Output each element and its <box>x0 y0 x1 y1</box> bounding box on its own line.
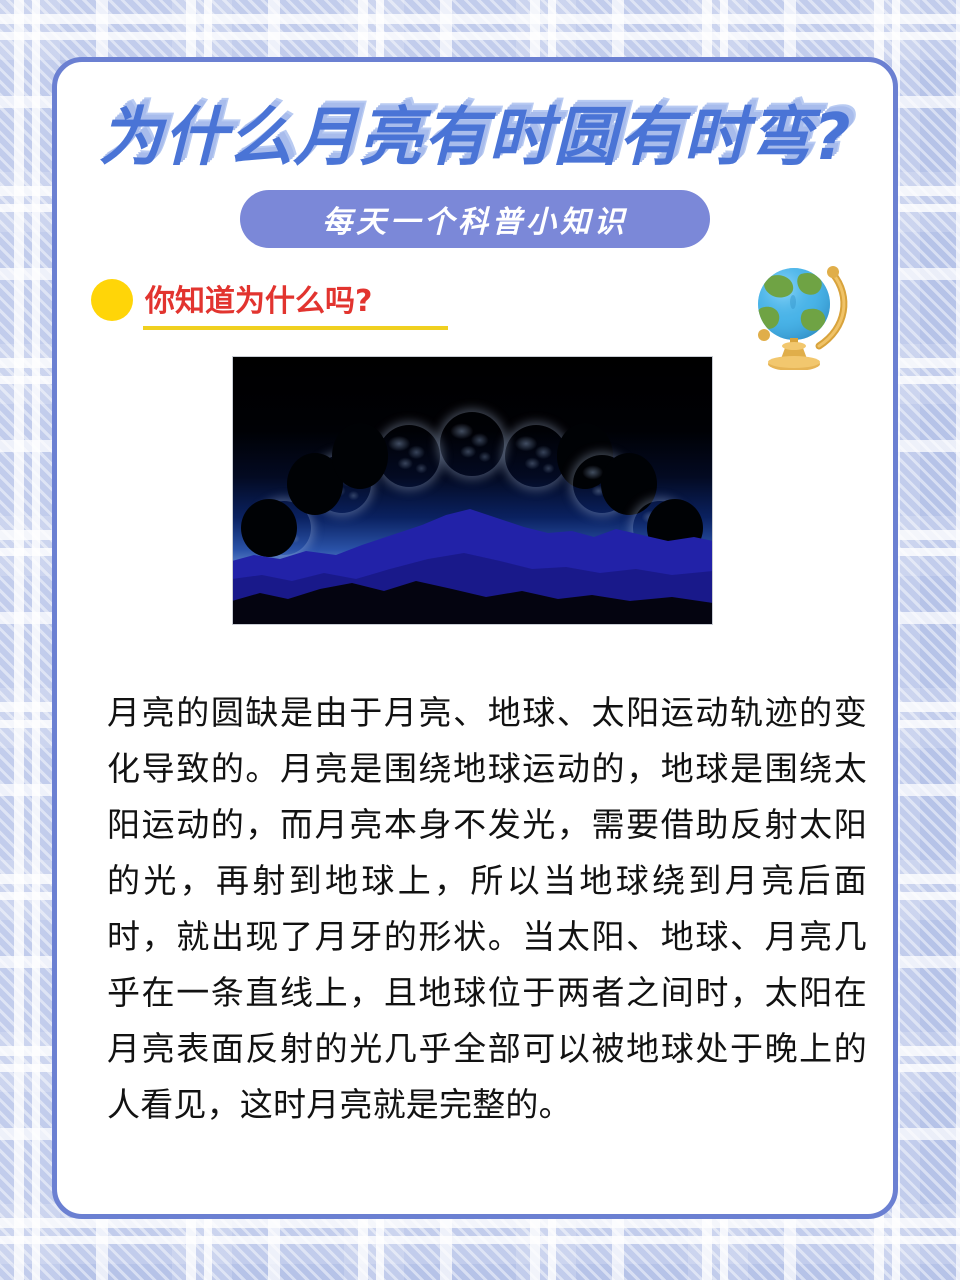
moon-phase-3 <box>378 425 440 487</box>
moon-phases-photo <box>232 356 713 625</box>
page-title: 为什么月亮有时圆有时弯? <box>57 92 893 184</box>
subtitle-badge: 每天一个科普小知识 <box>240 190 710 248</box>
yellow-bullet-dot-icon <box>91 279 133 321</box>
mountain-silhouette <box>232 505 713 625</box>
globe-icon <box>747 252 857 370</box>
section-heading: 你知道为什么吗? <box>145 276 372 320</box>
moon-phase-4-full <box>440 412 504 476</box>
body-paragraph: 月亮的圆缺是由于月亮、地球、太阳运动轨迹的变化导致的。月亮是围绕地球运动的，地球… <box>107 685 867 1133</box>
moon-surface-texture <box>440 412 504 476</box>
title-section: 为什么月亮有时圆有时弯? <box>57 92 893 184</box>
moon-shadow-mask <box>332 423 388 489</box>
moon-phase-5 <box>505 425 567 487</box>
poster-card: 为什么月亮有时圆有时弯? 每天一个科普小知识 你知道为什么吗? <box>52 57 898 1219</box>
section-heading-underline <box>143 326 448 330</box>
subtitle-badge-label: 每天一个科普小知识 <box>322 197 628 241</box>
